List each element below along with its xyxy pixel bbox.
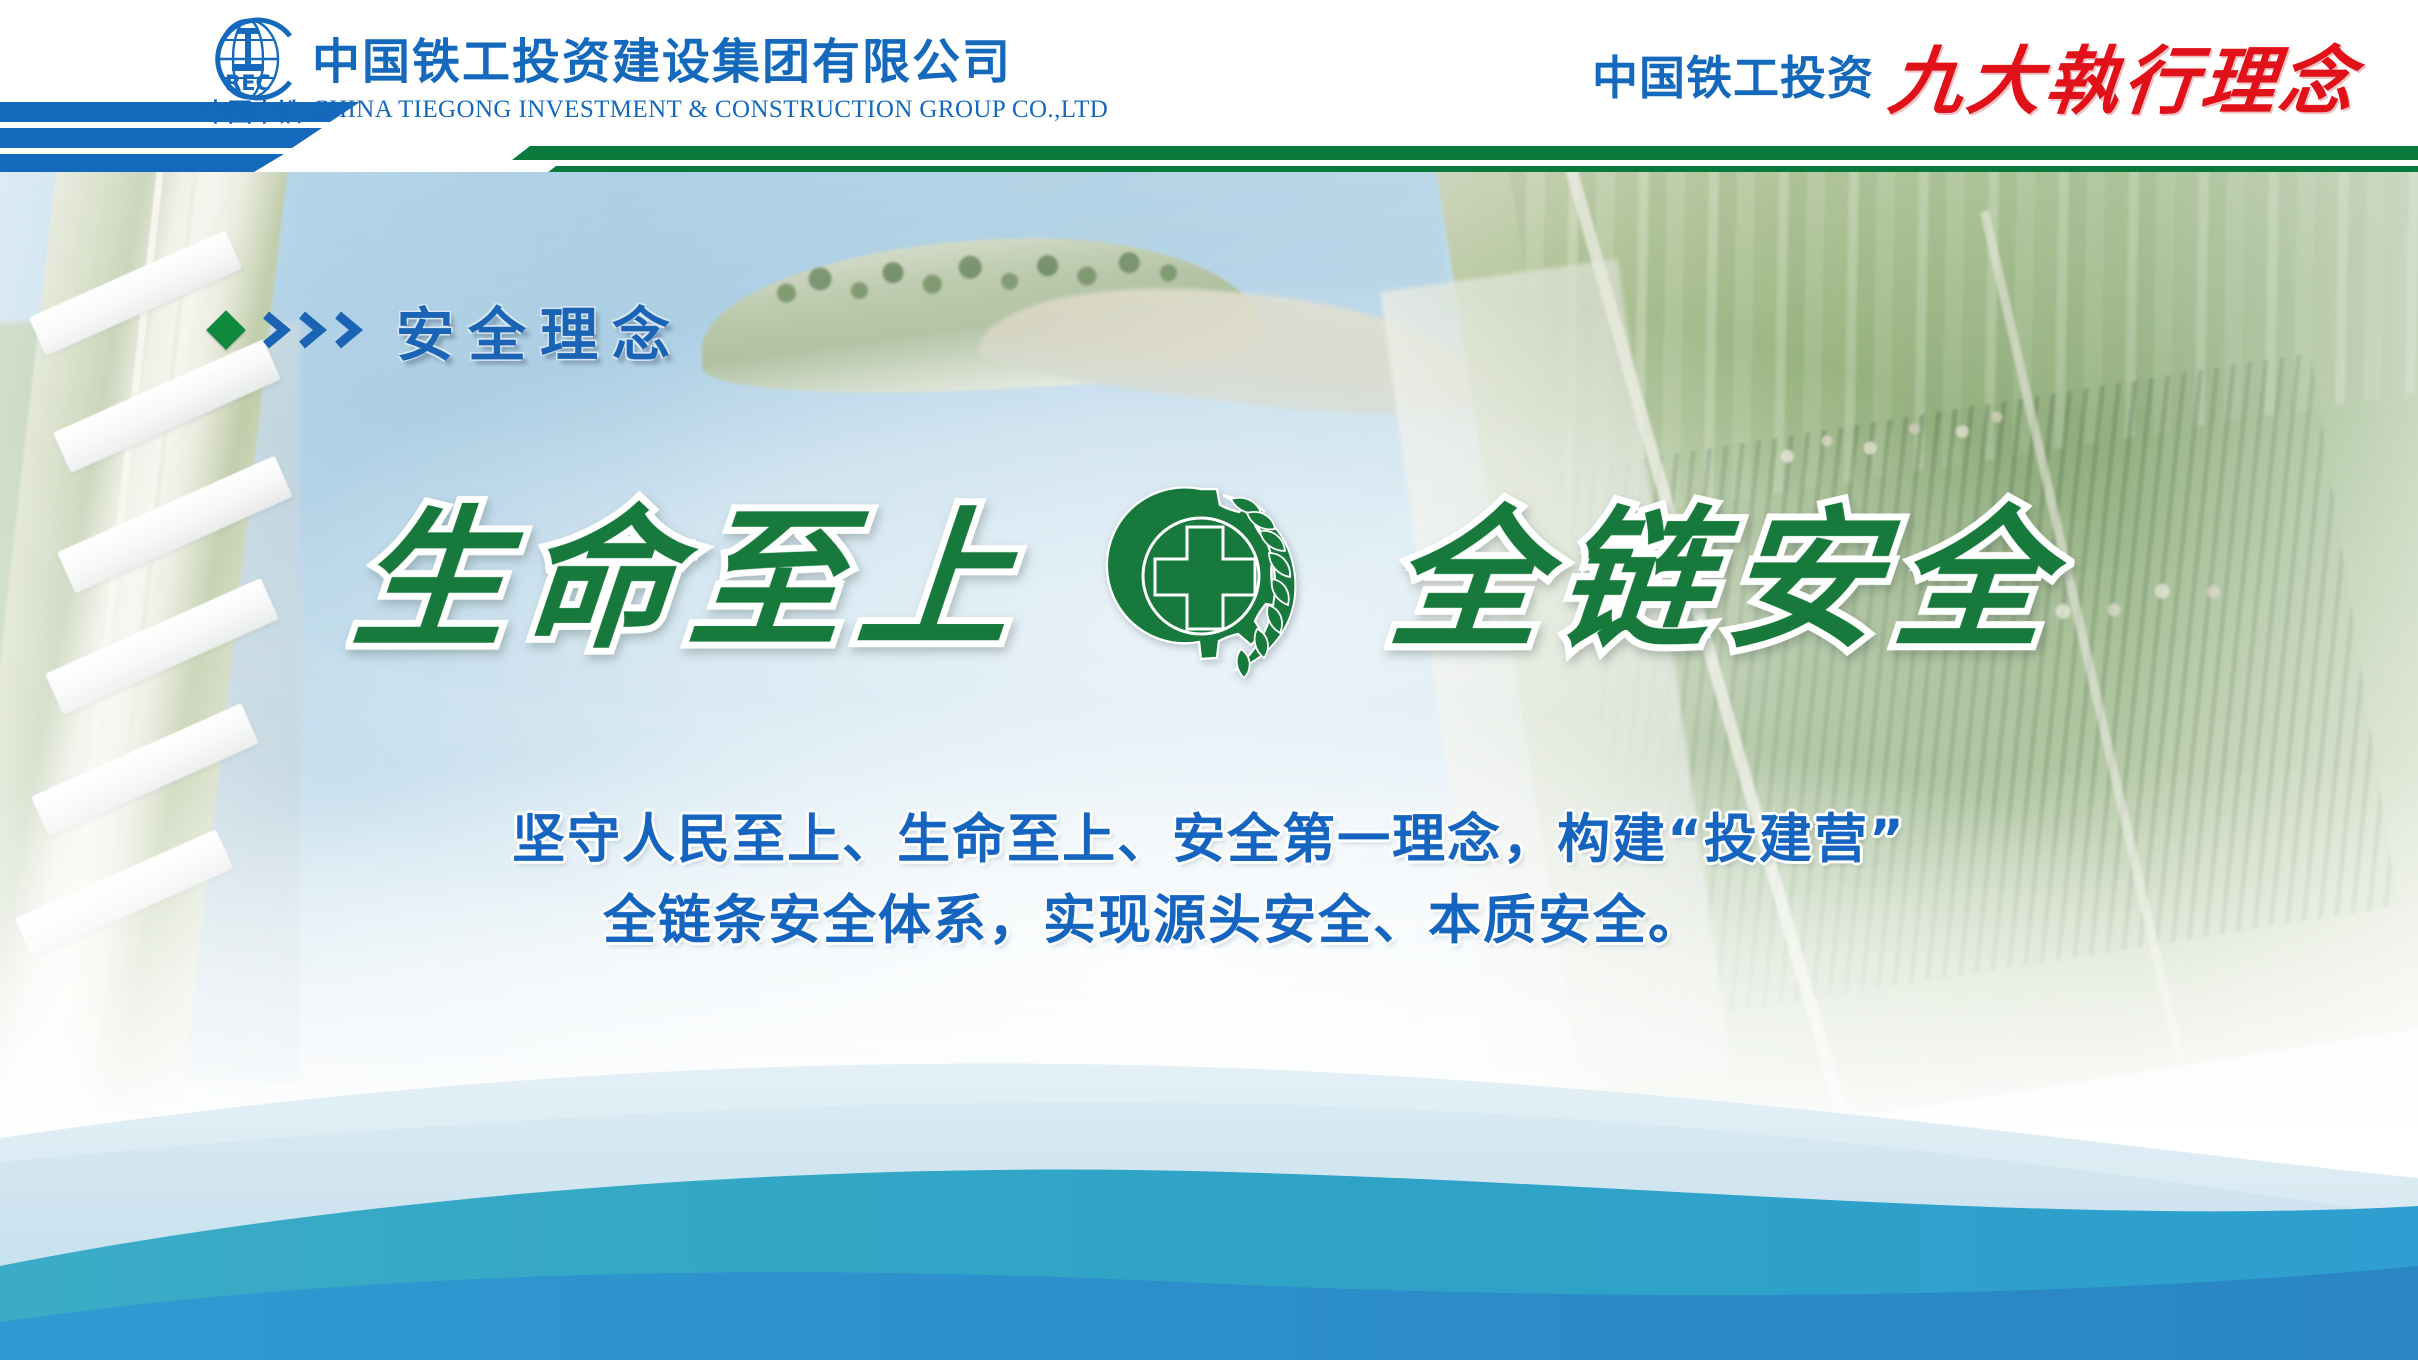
slogan-right-text: 全链安全 xyxy=(1384,504,2069,656)
diamond-icon xyxy=(206,310,246,350)
header-right-title: 九大執行理念 xyxy=(1884,22,2363,129)
body-paragraph-line-1: 坚守人民至上、生命至上、安全第一理念，构建“投建营” xyxy=(0,800,2418,881)
crec-globe-logo-icon: REC xyxy=(204,16,300,102)
section-title: 安全理念 xyxy=(212,288,684,372)
bottom-wave-decoration xyxy=(0,1030,2418,1360)
slide-root: REC 中国中铁 中国铁工投资建设集团有限公司 CHINA TIEGONG IN… xyxy=(0,0,2418,1360)
page-header: REC 中国中铁 中国铁工投资建设集团有限公司 CHINA TIEGONG IN… xyxy=(0,0,2418,172)
company-name-english: CHINA TIEGONG INVESTMENT & CONSTRUCTION … xyxy=(312,96,1108,124)
slogan-left-text: 生命至上 xyxy=(348,504,1033,656)
chevron-right-icon xyxy=(260,310,378,350)
safety-gear-cross-laurel-emblem-icon xyxy=(1105,481,1313,679)
body-paragraph-line-2: 全链条安全体系，实现源头安全、本质安全。 xyxy=(0,881,2418,962)
main-slogan: 生命至上 xyxy=(0,470,2418,690)
company-name-chinese: 中国铁工投资建设集团有限公司 xyxy=(312,22,1012,92)
header-right-prefix: 中国铁工投资 xyxy=(1592,42,1874,108)
section-title-text: 安全理念 xyxy=(396,288,684,372)
company-logo: REC 中国中铁 xyxy=(196,16,308,136)
logo-sublabel: 中国中铁 xyxy=(196,100,308,125)
body-paragraph: 坚守人民至上、生命至上、安全第一理念，构建“投建营” 全链条安全体系，实现源头安… xyxy=(0,800,2418,961)
svg-text:REC: REC xyxy=(225,71,271,95)
